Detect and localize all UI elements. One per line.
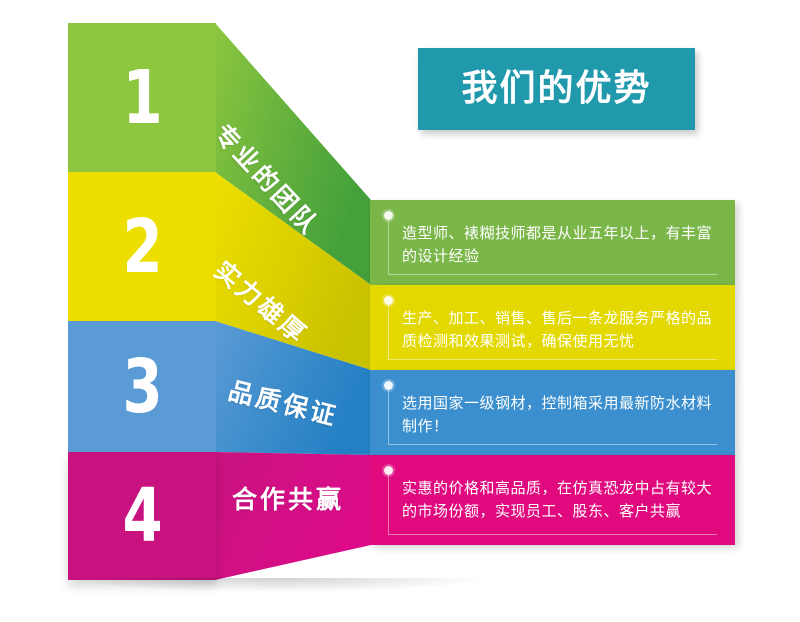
- number-block-4: 4: [68, 452, 216, 580]
- description-panel-1: 造型师、裱糊技师都是从业五年以上，有丰富的设计经验: [370, 200, 735, 285]
- number-block-1: 1: [68, 23, 216, 172]
- band-shape-4: [215, 452, 371, 580]
- title-banner: 我们的优势: [418, 48, 695, 130]
- description-text-4: 实惠的价格和高品质，在仿真恐龙中占有较大的市场份额，实现员工、股东、客户共赢: [402, 477, 713, 523]
- bullet-dot-icon-4: [384, 466, 393, 475]
- description-text-3: 选用国家一级钢材，控制箱采用最新防水材料制作！: [402, 392, 713, 438]
- number-block-2: 2: [68, 172, 216, 321]
- bullet-dot-icon-1: [384, 211, 393, 220]
- bullet-dot-icon-2: [384, 296, 393, 305]
- number-block-3: 3: [68, 321, 216, 452]
- description-text-1: 造型师、裱糊技师都是从业五年以上，有丰富的设计经验: [402, 222, 713, 268]
- description-panel-4: 实惠的价格和高品质，在仿真恐龙中占有较大的市场份额，实现员工、股东、客户共赢: [370, 455, 735, 545]
- number-label-3: 3: [123, 350, 162, 424]
- number-label-4: 4: [123, 479, 162, 553]
- number-label-1: 1: [123, 61, 162, 135]
- description-panel-3: 选用国家一级钢材，控制箱采用最新防水材料制作！: [370, 370, 735, 455]
- description-panel-2: 生产、加工、销售、售后一条龙服务严格的品质检测和效果测试，确保使用无忧: [370, 285, 735, 370]
- bullet-dot-icon-3: [384, 381, 393, 390]
- number-label-2: 2: [123, 210, 162, 284]
- page-title: 我们的优势: [461, 71, 651, 107]
- base-shadow: [72, 578, 482, 592]
- infographic-canvas: 1 2 3 4 专业的团队 实力雄厚 品质保证 合作共赢 我们的优势 造型师、裱…: [0, 0, 800, 622]
- band-label-4: 合作共赢: [232, 487, 344, 512]
- description-text-2: 生产、加工、销售、售后一条龙服务严格的品质检测和效果测试，确保使用无忧: [402, 307, 713, 353]
